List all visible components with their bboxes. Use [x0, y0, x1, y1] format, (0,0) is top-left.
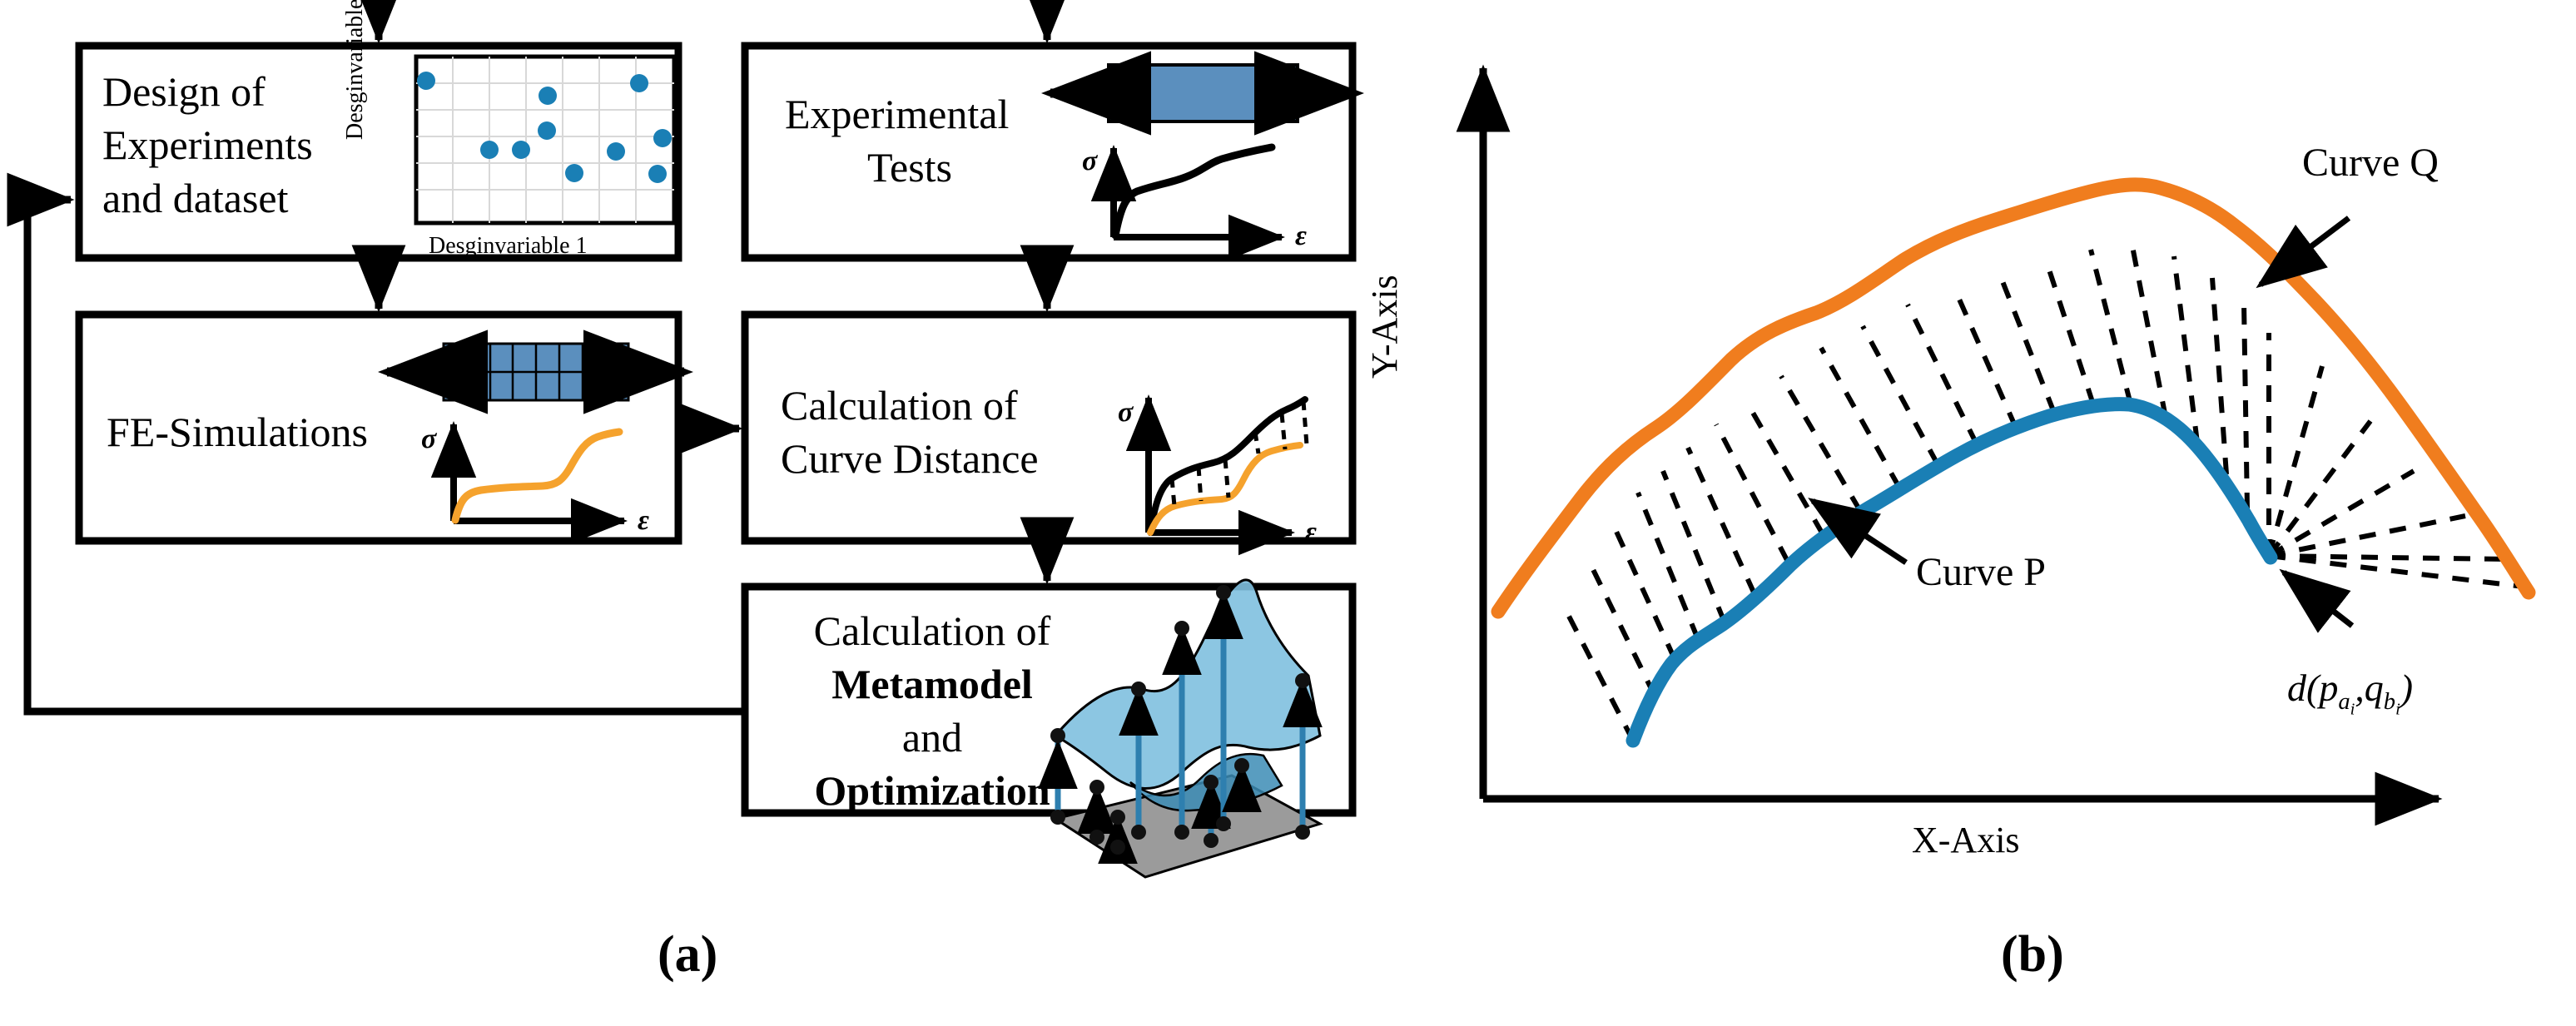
distance-formula-label: d(pai,qbi)	[2287, 666, 2413, 720]
experimental-sigma-label: σ	[1082, 143, 1097, 180]
curve-q-label: Curve Q	[2302, 140, 2439, 186]
distance-epsilon-label: ε	[1305, 514, 1317, 551]
panel-a-caption: (a)	[658, 925, 717, 984]
distance-formula-comma: ,	[2355, 667, 2365, 709]
box-experimental-tests-label: Experimental Tests	[785, 87, 1035, 194]
panel-b-y-axis-label: Y-Axis	[1363, 275, 1406, 379]
box-design-of-experiments-label: Design of Experiments and dataset	[102, 65, 319, 225]
distance-formula-d: d(	[2287, 667, 2319, 709]
distance-formula-close: )	[2400, 667, 2413, 709]
figure-canvas	[0, 0, 2576, 1026]
distance-formula-a: a	[2338, 689, 2350, 715]
curve-p-label: Curve P	[1916, 549, 2046, 595]
arrow-to-distance-label	[2284, 572, 2352, 626]
curve-q-orange	[1498, 185, 2529, 612]
distance-formula-q: q	[2365, 667, 2384, 709]
specimen-bar-solid	[1109, 65, 1298, 121]
box-calculation-curve-distance-label: Calculation of Curve Distance	[781, 379, 1097, 485]
panel-b-x-axis-label: X-Axis	[1912, 819, 2020, 861]
figure-root: Design of Experiments and dataset Desgin…	[0, 0, 2576, 1026]
box-fe-simulations-label: FE-Simulations	[107, 405, 456, 458]
distance-formula-b: b	[2384, 689, 2395, 715]
experimental-epsilon-label: ε	[1295, 218, 1307, 255]
distance-sigma-label: σ	[1118, 394, 1133, 431]
scatter-xlabel: Desginvariable 1	[429, 231, 588, 261]
distance-fan-lines	[2269, 333, 2530, 587]
inset-scatter-plot	[416, 57, 674, 223]
fe-epsilon-label: ε	[638, 503, 649, 539]
fe-sigma-label: σ	[421, 421, 436, 458]
panel-b-caption: (b)	[2001, 925, 2064, 984]
distance-formula-p: p	[2319, 667, 2338, 709]
scatter-ylabel: Desginvariable 2	[340, 0, 370, 140]
box-metamodel-optimization-label: Calculation of Metamodel and Optimizatio…	[778, 604, 1086, 817]
